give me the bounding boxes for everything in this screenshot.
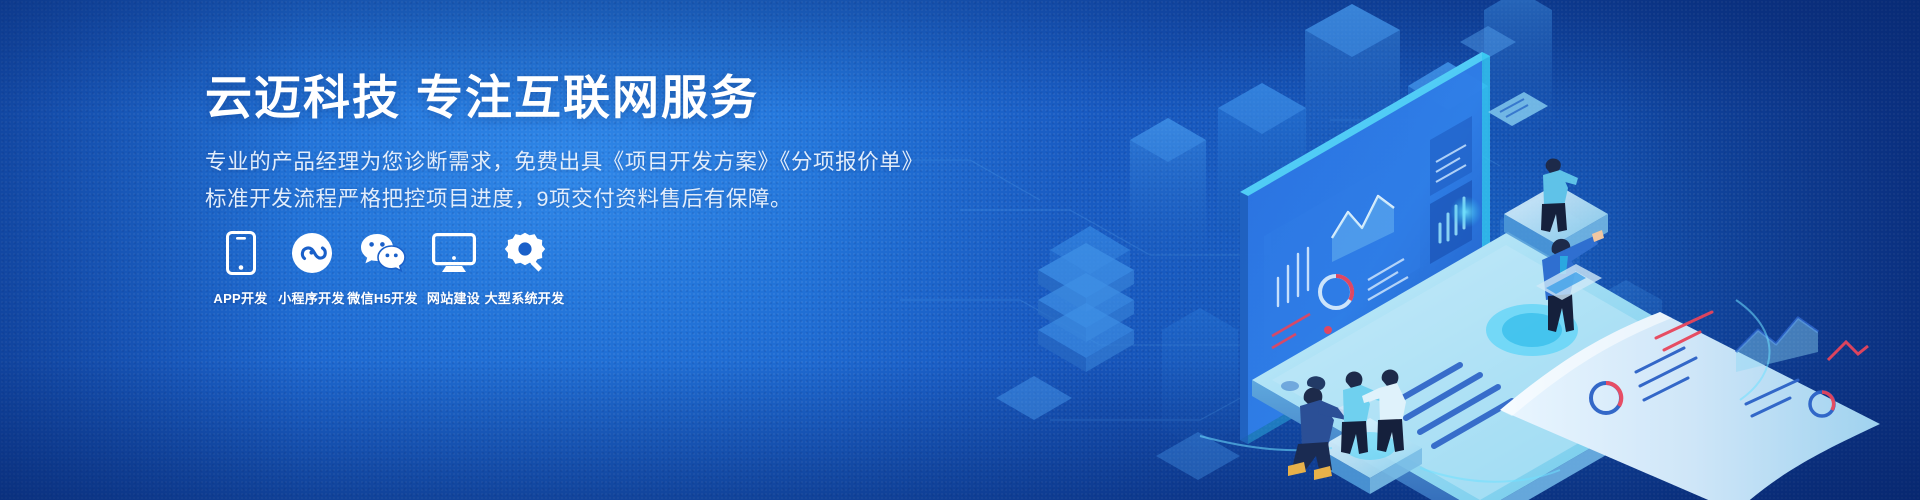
service-item-miniprogram[interactable]: 小程序开发 (276, 230, 347, 307)
wechat-icon (360, 230, 406, 276)
service-item-wechat[interactable]: 微信H5开发 (347, 230, 418, 307)
service-icon-row: APP开发 小程序开发 (205, 230, 560, 307)
page-title: 云迈科技 专注互联网服务 (205, 72, 759, 125)
service-label-wechat: 微信H5开发 (347, 288, 417, 307)
subtitle-line-1: 专业的产品经理为您诊断需求，免费出具《项目开发方案》《分项报价单》 (205, 145, 924, 176)
service-item-website[interactable]: 网站建设 (418, 230, 489, 307)
service-item-system[interactable]: 大型系统开发 (489, 230, 560, 307)
hero-banner: 云迈科技 专注互联网服务 专业的产品经理为您诊断需求，免费出具《项目开发方案》《… (0, 0, 1920, 500)
subtitle-line-2: 标准开发流程严格把控项目进度，9项交付资料售后有保障。 (205, 182, 792, 213)
service-item-app[interactable]: APP开发 (205, 230, 276, 307)
service-label-website: 网站建设 (427, 288, 480, 307)
service-label-app: APP开发 (213, 288, 267, 307)
banner-content: 云迈科技 专注互联网服务 专业的产品经理为您诊断需求，免费出具《项目开发方案》《… (205, 0, 965, 500)
service-label-miniprogram: 小程序开发 (278, 288, 345, 307)
monitor-icon (431, 230, 477, 276)
mini-program-icon (289, 230, 335, 276)
gear-icon (502, 230, 548, 276)
service-label-system: 大型系统开发 (485, 288, 565, 307)
mobile-phone-icon (218, 230, 264, 276)
